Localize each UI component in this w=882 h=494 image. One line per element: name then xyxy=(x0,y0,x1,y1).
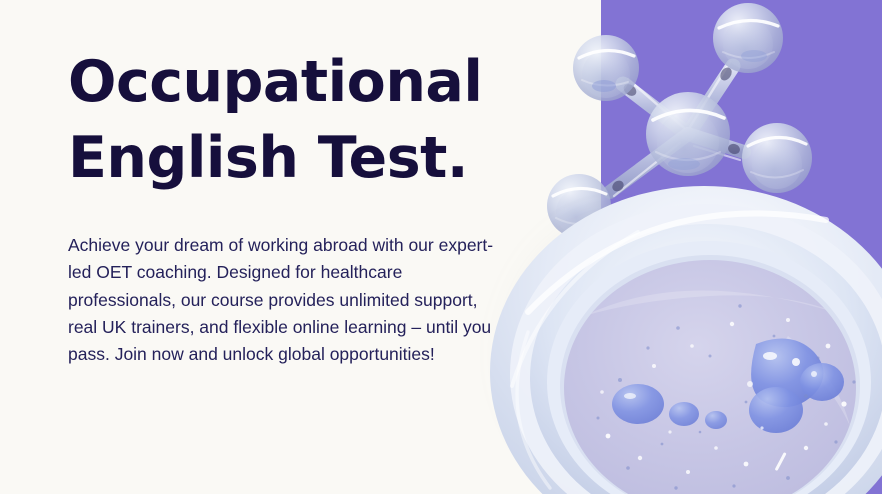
hero-text-column: Occupational English Test. Achieve your … xyxy=(68,44,508,368)
hero-description: Achieve your dream of working abroad wit… xyxy=(68,196,498,368)
glass-bowl-icon xyxy=(488,196,882,494)
hero-banner: Occupational English Test. Achieve your … xyxy=(0,0,882,494)
page-title: Occupational English Test. xyxy=(68,44,508,196)
